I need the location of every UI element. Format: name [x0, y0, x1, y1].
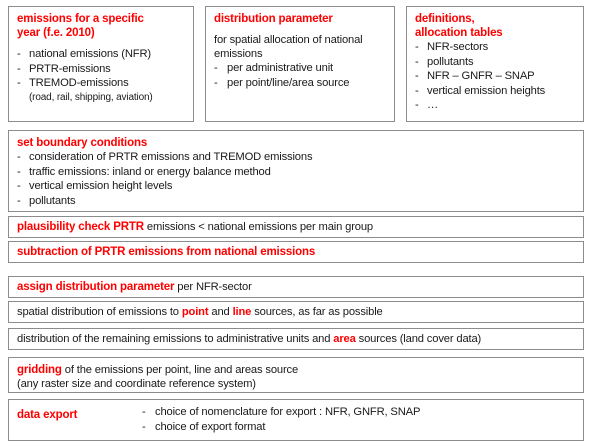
- dash-marker: -: [415, 40, 419, 55]
- list-item-label: consideration of PRTR emissions and TREM…: [29, 151, 312, 163]
- list-item: -vertical emission height levels: [17, 179, 575, 194]
- box-emissions-for-year: emissions for a specific year (f.e. 2010…: [8, 6, 194, 122]
- list-item: -choice of nomenclature for export : NFR…: [142, 405, 420, 420]
- box-definitions-allocation-tables: definitions, allocation tables -NFR-sect…: [406, 6, 584, 122]
- distribution-parameter-heading: distribution parameter: [214, 12, 386, 26]
- emissions-heading-line1: emissions for a specific: [17, 12, 185, 26]
- list-item-label: choice of export format: [155, 421, 265, 433]
- list-item-label: TREMOD-emissions: [29, 77, 129, 89]
- list-item: -per administrative unit: [214, 61, 386, 76]
- spatial-part3: sources, as far as possible: [251, 306, 382, 318]
- dash-marker: -: [17, 76, 21, 91]
- plausibility-line: plausibility check PRTR emissions < nati…: [17, 220, 575, 234]
- distribution-parameter-item-list: -per administrative unit -per point/line…: [214, 61, 386, 90]
- remaining-keyword-area: area: [333, 333, 355, 345]
- export-label-cell: data export: [17, 405, 142, 423]
- list-item-label: per point/line/area source: [227, 77, 349, 89]
- spatial-part1: spatial distribution of emissions to: [17, 306, 182, 318]
- dash-marker: -: [415, 55, 419, 70]
- assign-line: assign distribution parameter per NFR-se…: [17, 280, 575, 294]
- definitions-item-list: -NFR-sectors -pollutants -NFR – GNFR – S…: [415, 40, 575, 113]
- dash-marker: -: [17, 179, 21, 194]
- dash-marker: -: [142, 405, 146, 420]
- dash-marker: -: [415, 84, 419, 99]
- spatial-keyword-point: point: [182, 306, 209, 318]
- dash-marker: -: [415, 98, 419, 113]
- spatial-part2: and: [208, 306, 232, 318]
- spatial-keyword-line: line: [233, 306, 252, 318]
- remaining-part1: distribution of the remaining emissions …: [17, 333, 333, 345]
- subtraction-heading: subtraction of PRTR emissions from natio…: [17, 246, 315, 258]
- emission-workflow-diagram: emissions for a specific year (f.e. 2010…: [0, 0, 600, 447]
- list-item-label: choice of nomenclature for export : NFR,…: [155, 406, 420, 418]
- assign-heading: assign distribution parameter: [17, 281, 174, 293]
- export-heading: data export: [17, 409, 77, 421]
- box-assign-distribution-parameter: assign distribution parameter per NFR-se…: [8, 276, 584, 298]
- list-item: -vertical emission heights: [415, 84, 575, 99]
- list-item: -…: [415, 98, 575, 113]
- box-plausibility-check: plausibility check PRTR emissions < nati…: [8, 216, 584, 238]
- definitions-heading-line2: allocation tables: [415, 26, 575, 40]
- plausibility-heading: plausibility check PRTR: [17, 221, 144, 233]
- list-item: -NFR – GNFR – SNAP: [415, 69, 575, 84]
- list-item: -NFR-sectors: [415, 40, 575, 55]
- dash-marker: -: [17, 47, 21, 62]
- boundary-heading: set boundary conditions: [17, 136, 575, 150]
- subtraction-line: subtraction of PRTR emissions from natio…: [17, 245, 575, 259]
- emissions-spacer: [17, 40, 185, 47]
- distribution-parameter-spacer: [214, 26, 386, 33]
- box-spatial-distribution: spatial distribution of emissions to poi…: [8, 301, 584, 323]
- box-data-export: data export -choice of nomenclature for …: [8, 399, 584, 441]
- export-items-cell: -choice of nomenclature for export : NFR…: [142, 405, 420, 434]
- list-item-label: NFR-sectors: [427, 41, 488, 53]
- list-item-label: vertical emission heights: [427, 85, 545, 97]
- dash-marker: -: [142, 420, 146, 435]
- emissions-item-list: -national emissions (NFR) -PRTR-emission…: [17, 47, 185, 105]
- plausibility-rest: emissions < national emissions per main …: [144, 221, 373, 233]
- remaining-line: distribution of the remaining emissions …: [17, 332, 575, 346]
- list-item-sub-label: (road, rail, shipping, aviation): [29, 92, 153, 103]
- list-item: -PRTR-emissions: [17, 62, 185, 77]
- assign-rest: per NFR-sector: [174, 281, 251, 293]
- list-item: -pollutants: [17, 194, 575, 209]
- list-item-label: PRTR-emissions: [29, 63, 111, 75]
- list-item-sub: (road, rail, shipping, aviation): [17, 91, 185, 105]
- list-item-label: pollutants: [427, 56, 473, 68]
- list-item-label: pollutants: [29, 195, 75, 207]
- gridding-heading: gridding: [17, 364, 62, 376]
- boundary-item-list: -consideration of PRTR emissions and TRE…: [17, 150, 575, 208]
- emissions-heading-line2: year (f.e. 2010): [17, 26, 185, 40]
- box-remaining-emissions-distribution: distribution of the remaining emissions …: [8, 328, 584, 350]
- list-item-label: vertical emission height levels: [29, 180, 172, 192]
- spatial-line: spatial distribution of emissions to poi…: [17, 305, 575, 319]
- export-item-list: -choice of nomenclature for export : NFR…: [142, 405, 420, 434]
- list-item-label: national emissions (NFR): [29, 48, 151, 60]
- gridding-line1: gridding of the emissions per point, lin…: [17, 363, 575, 377]
- list-item: -choice of export format: [142, 420, 420, 435]
- dash-marker: -: [214, 61, 218, 76]
- list-item: -per point/line/area source: [214, 76, 386, 91]
- box-gridding: gridding of the emissions per point, lin…: [8, 357, 584, 393]
- dash-marker: -: [214, 76, 218, 91]
- dash-marker: -: [415, 69, 419, 84]
- definitions-heading-line1: definitions,: [415, 12, 575, 26]
- list-item-label: per administrative unit: [227, 62, 333, 74]
- list-item: -traffic emissions: inland or energy bal…: [17, 165, 575, 180]
- dash-marker: -: [17, 62, 21, 77]
- dash-marker: -: [17, 194, 21, 209]
- box-set-boundary-conditions: set boundary conditions -consideration o…: [8, 130, 584, 212]
- list-item: -TREMOD-emissions: [17, 76, 185, 91]
- dash-marker: -: [17, 150, 21, 165]
- box-distribution-parameter: distribution parameter for spatial alloc…: [205, 6, 395, 122]
- box-subtraction-prtr: subtraction of PRTR emissions from natio…: [8, 241, 584, 263]
- dash-marker: -: [17, 165, 21, 180]
- gridding-rest: of the emissions per point, line and are…: [62, 364, 298, 376]
- gridding-line2: (any raster size and coordinate referenc…: [17, 377, 575, 391]
- list-item: -consideration of PRTR emissions and TRE…: [17, 150, 575, 165]
- list-item-label: …: [427, 99, 438, 111]
- list-item: -national emissions (NFR): [17, 47, 185, 62]
- list-item-label: NFR – GNFR – SNAP: [427, 70, 534, 82]
- distribution-parameter-intro-line2: emissions: [214, 47, 386, 61]
- export-layout: data export -choice of nomenclature for …: [17, 405, 575, 434]
- distribution-parameter-intro-line1: for spatial allocation of national: [214, 33, 386, 47]
- remaining-part2: sources (land cover data): [356, 333, 481, 345]
- list-item: -pollutants: [415, 55, 575, 70]
- list-item-label: traffic emissions: inland or energy bala…: [29, 166, 271, 178]
